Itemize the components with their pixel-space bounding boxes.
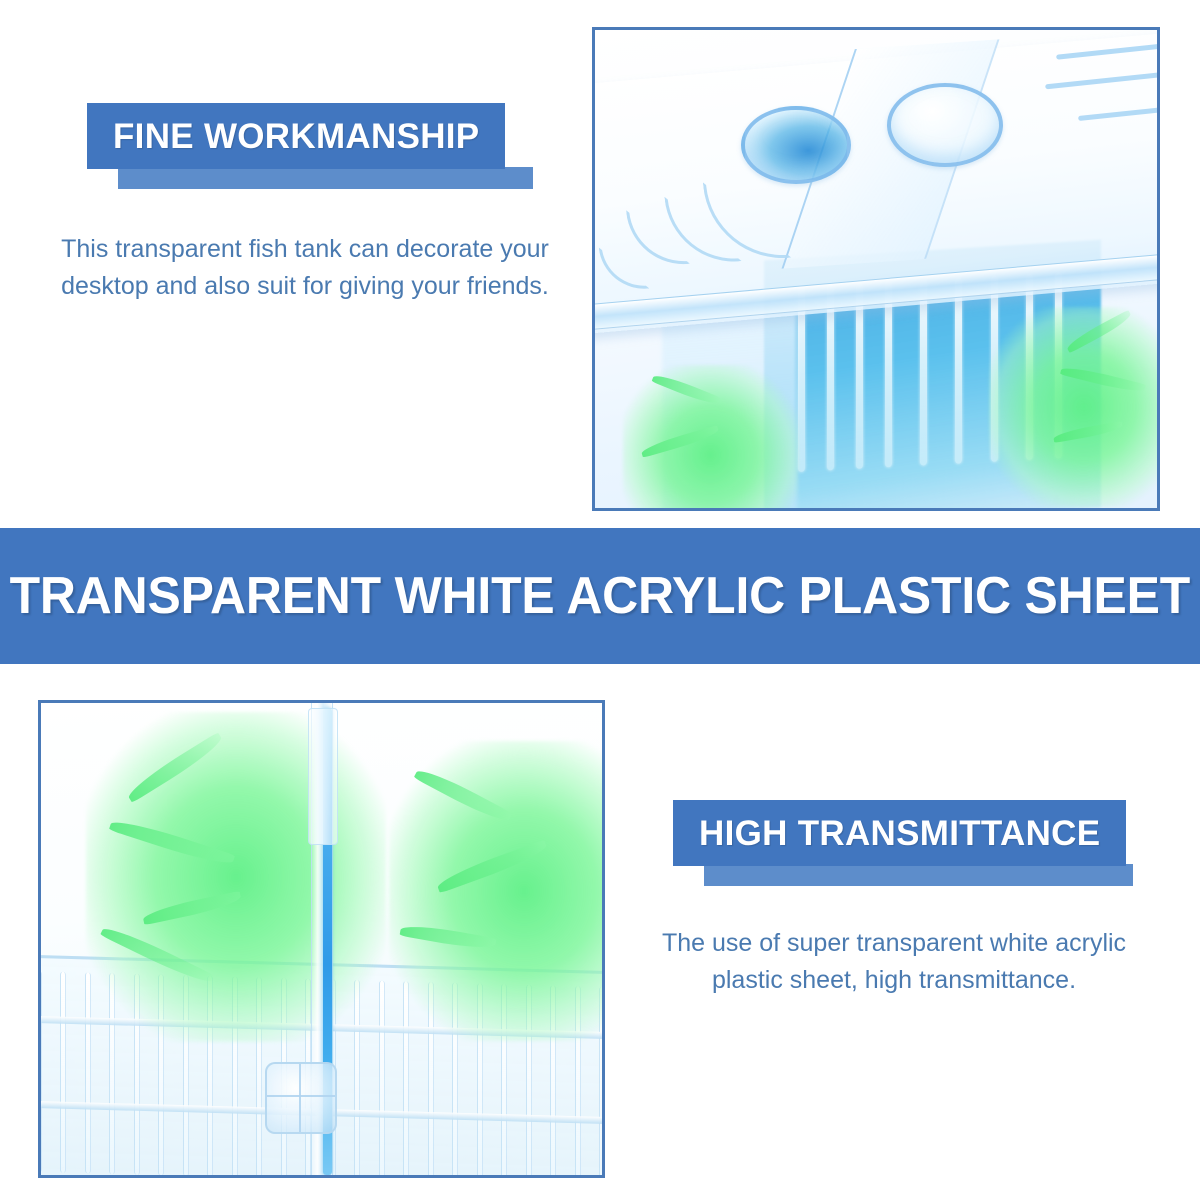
artificial-plant-right	[989, 307, 1157, 507]
heading-banner-label: HIGH TRANSMITTANCE	[673, 800, 1126, 866]
feeding-hole-right	[887, 83, 1003, 167]
body-text-high-transmittance: The use of super transparent white acryl…	[636, 925, 1152, 999]
center-banner: TRANSPARENT WHITE ACRYLIC PLASTIC SHEET	[0, 528, 1200, 664]
air-tube-upper-sleeve	[308, 708, 338, 845]
heading-shadow-bar	[704, 864, 1133, 886]
heading-shadow-bar	[118, 167, 533, 189]
heading-banner-label: FINE WORKMANSHIP	[87, 103, 505, 169]
artificial-plant-right	[389, 741, 602, 1041]
photo-content-top	[595, 30, 1157, 508]
product-photo-plants-divider	[38, 700, 605, 1178]
heading-fine-workmanship: FINE WORKMANSHIP	[87, 103, 505, 169]
product-feature-page: FINE WORKMANSHIP This transparent fish t…	[0, 0, 1200, 1200]
body-text-fine-workmanship: This transparent fish tank can decorate …	[55, 231, 555, 305]
pump-base-line	[267, 1095, 335, 1097]
center-banner-label: TRANSPARENT WHITE ACRYLIC PLASTIC SHEET	[10, 566, 1190, 626]
pump-suction-base	[265, 1062, 337, 1134]
artificial-plant-left	[623, 365, 798, 508]
pump-base-line	[299, 1064, 301, 1132]
photo-content-bottom	[41, 703, 602, 1175]
product-photo-tank-lid	[592, 27, 1160, 511]
artificial-plant-left	[86, 712, 386, 1042]
heading-high-transmittance: HIGH TRANSMITTANCE	[673, 800, 1126, 866]
feeding-hole-left	[741, 106, 851, 184]
